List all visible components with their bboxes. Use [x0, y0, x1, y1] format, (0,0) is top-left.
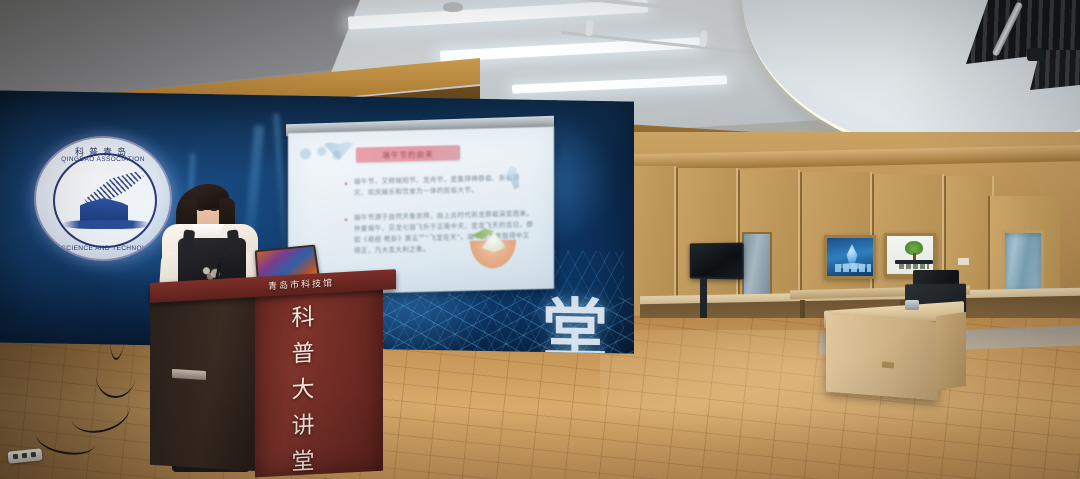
power-socket[interactable]: [31, 452, 36, 457]
qingdao-association-logo: 科普青岛 QINGDAO ASSOCIATION FOR SCIENCE AND…: [34, 136, 172, 261]
podium-venue-label: 青岛市科技馆: [268, 276, 334, 293]
podium-name-plate: [172, 369, 206, 380]
wall-display-monitor[interactable]: [690, 243, 744, 280]
slide-title: 端午节的由来: [356, 148, 460, 162]
power-socket[interactable]: [22, 453, 27, 458]
presenter-strap: [227, 229, 240, 252]
cabinet-faucet-icon: [905, 300, 919, 310]
cabinet-body[interactable]: [826, 314, 938, 401]
slide-bullet-1: 端午节，又称端阳节、龙舟节，是集拜神祭祖、祈福辳灾、欢庆娱乐和饮食为一体的民俗大…: [354, 172, 532, 198]
room-door[interactable]: [742, 232, 772, 302]
tree-trunk: [913, 253, 916, 260]
logo-water-line: [62, 220, 150, 229]
water-drop-icon: [845, 244, 859, 264]
slide-title-box: 端午节的由来: [356, 145, 460, 163]
wall-switch-plate[interactable]: [958, 258, 969, 265]
smoke-detector-icon: [443, 2, 463, 12]
projection-screen: 端午节的由来 端午节，又称端阳节、龙舟节，是集拜神祭祖、祈福辳灾、欢庆娱乐和饮食…: [288, 127, 554, 296]
ceiling-projector: [1027, 48, 1043, 61]
microphone-icon[interactable]: [220, 256, 229, 265]
presenter-eye: [198, 208, 204, 211]
lecture-hall-photo: 科 堂 青岛市科学技术协会 承办 青岛市科技馆 科普青岛 QINGDAO ASS…: [0, 0, 1080, 479]
podium-front-panel: [255, 283, 383, 478]
monitor-stand-neck: [700, 278, 707, 322]
wall-glass-niche: [1002, 230, 1044, 296]
slide-bullet-marker: [344, 182, 348, 186]
logo-english-bottom: FOR SCIENCE AND TECHNOLOGY: [36, 245, 170, 252]
logo-english-top: QINGDAO ASSOCIATION: [36, 156, 170, 163]
podium-vertical-text: 科普大讲堂: [288, 299, 318, 479]
slide-bullet-marker: [344, 218, 348, 222]
poster-water-blue: [824, 235, 876, 279]
presenter-eye: [211, 208, 217, 211]
poster-caption: [899, 264, 929, 269]
cabinet-handle[interactable]: [882, 362, 894, 369]
presenter-strap: [182, 229, 195, 252]
power-socket[interactable]: [13, 454, 18, 459]
poster-caption: [835, 264, 871, 272]
cabinet-side: [936, 312, 966, 390]
